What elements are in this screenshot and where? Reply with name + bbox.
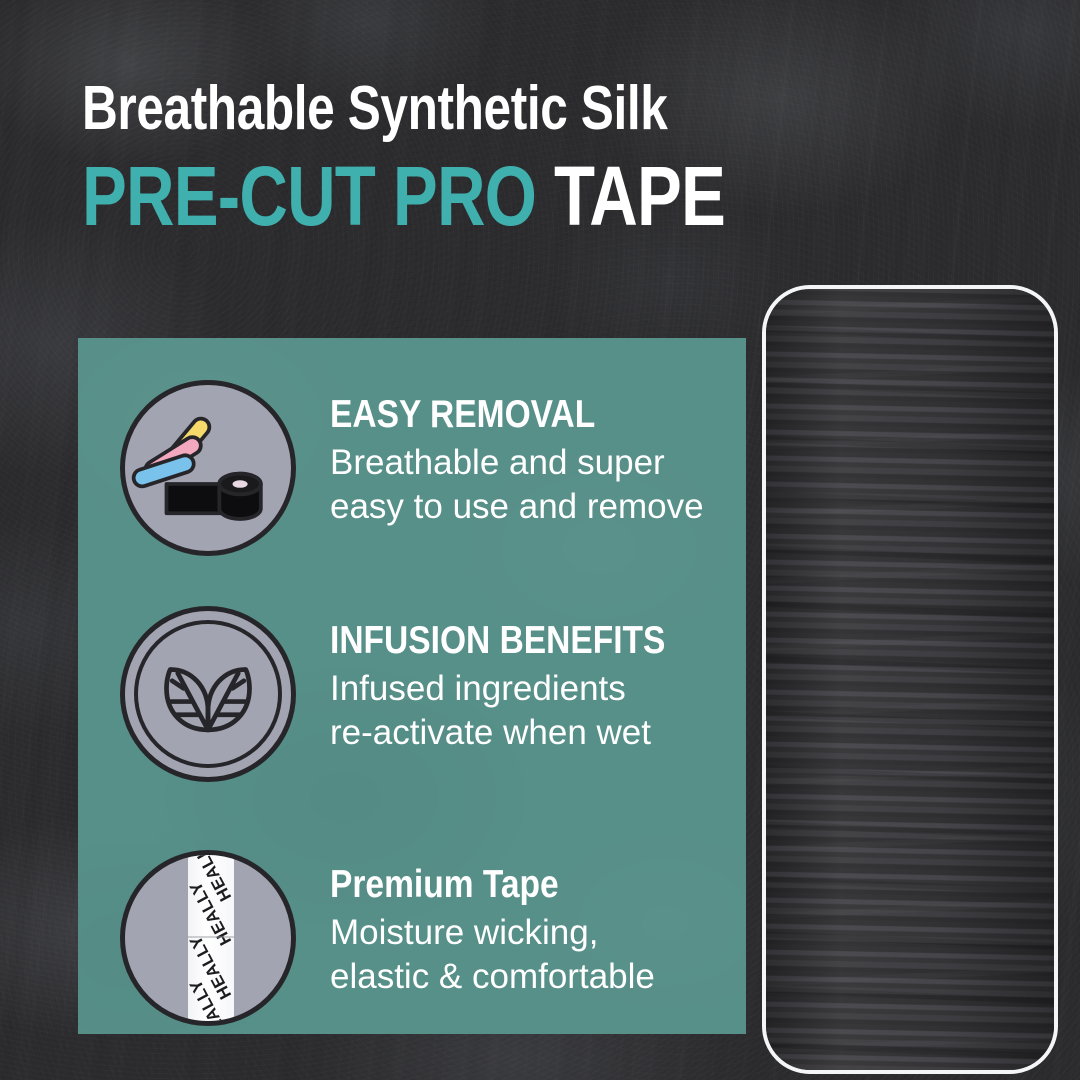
feature-title: INFUSION BENEFITS (330, 620, 665, 662)
tape-icon-graphic (125, 385, 291, 551)
tape-rolls-and-strips-icon (120, 380, 296, 556)
feature-text-block: INFUSION BENEFITS Infused ingredients re… (330, 606, 720, 755)
feature-item-premium-tape: HEALLY HEALLY HEALLY HEALLY Premium Tape… (120, 850, 740, 1026)
icon-clip: HEALLY HEALLY HEALLY HEALLY (125, 855, 291, 1021)
feature-text-block: Premium Tape Moisture wicking, elastic &… (330, 850, 655, 999)
headline-accent-text: PRE-CUT PRO (82, 149, 536, 243)
icon-clip (125, 385, 291, 551)
product-tape-strip-image (762, 285, 1058, 1074)
feature-item-infusion-benefits: INFUSION BENEFITS Infused ingredients re… (120, 606, 740, 782)
two-leaves-icon (120, 606, 296, 782)
feature-title: Premium Tape (330, 864, 609, 906)
feature-desc-line-1: Breathable and super (330, 441, 704, 485)
headline-block: Breathable Synthetic Silk PRE-CUT PRO TA… (82, 78, 802, 238)
headline-white-text (536, 149, 554, 243)
feature-desc-line-1: Moisture wicking, (330, 911, 655, 955)
features-panel: EASY REMOVAL Breathable and super easy t… (78, 338, 746, 1034)
tape-shading-overlay (766, 289, 1054, 1070)
feature-description: Infused ingredients re-activate when wet (330, 667, 720, 755)
feature-title: EASY REMOVAL (330, 394, 651, 436)
feature-desc-line-2: re-activate when wet (330, 711, 720, 755)
feature-desc-line-1: Infused ingredients (330, 667, 720, 711)
feature-desc-line-2: elastic & comfortable (330, 955, 655, 999)
product-infographic: Breathable Synthetic Silk PRE-CUT PRO TA… (0, 0, 1080, 1080)
feature-description: Moisture wicking, elastic & comfortable (330, 911, 655, 999)
branded-tape-strip: HEALLY HEALLY HEALLY HEALLY (188, 855, 234, 1021)
feature-description: Breathable and super easy to use and rem… (330, 441, 704, 529)
feature-text-block: EASY REMOVAL Breathable and super easy t… (330, 380, 704, 529)
branded-tape-strip-icon: HEALLY HEALLY HEALLY HEALLY (120, 850, 296, 1026)
feature-desc-line-2: easy to use and remove (330, 485, 704, 529)
feature-item-easy-removal: EASY REMOVAL Breathable and super easy t… (120, 380, 740, 556)
headline-line-1: Breathable Synthetic Silk (82, 78, 658, 140)
headline-tape-word: TAPE (554, 149, 725, 243)
leaves-icon-graphic (125, 611, 291, 777)
headline-line-2: PRE-CUT PRO TAPE (82, 154, 658, 238)
